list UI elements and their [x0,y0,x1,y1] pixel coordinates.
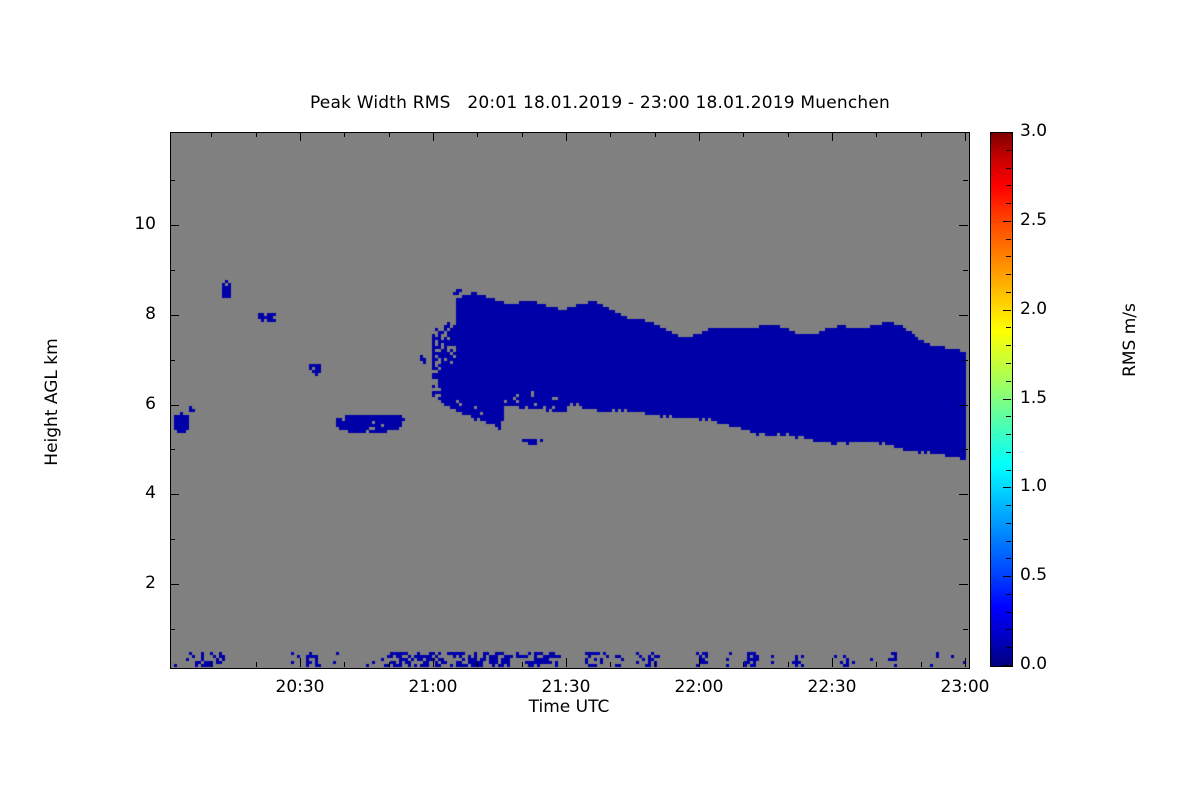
y-axis-tick-right [963,629,968,630]
x-axis-tick-top [300,132,301,141]
colorbar-label: RMS m/s [1120,220,1140,460]
colorbar-tick-minor [1006,327,1011,328]
x-axis-tick-top [699,132,700,141]
colorbar-tick-label: 2.0 [1020,299,1047,319]
colorbar-tick [1003,310,1011,311]
colorbar-tick-minor [1006,168,1011,169]
colorbar-tick [1003,399,1011,400]
x-axis-tick [433,658,434,667]
colorbar-tick-minor [1006,345,1011,346]
y-axis-tick-right [963,180,968,181]
x-axis-tick [965,658,966,667]
x-axis-label: Time UTC [170,697,968,717]
x-axis-tick-top [433,132,434,141]
x-axis-tick [389,662,390,667]
x-axis-tick-top [876,132,877,137]
colorbar-tick-label: 0.0 [1020,654,1047,674]
x-axis-tick-top [921,132,922,137]
plot-area[interactable] [170,132,970,669]
y-axis-tick-right [959,225,968,226]
x-axis-tick-top [965,132,966,141]
colorbar-tick-minor [1006,256,1011,257]
y-axis-tick [170,360,175,361]
colorbar-tick-minor [1006,470,1011,471]
colorbar-tick-minor [1006,594,1011,595]
x-axis-tick-top [566,132,567,141]
y-axis-tick-label: 2 [86,573,156,593]
y-axis-tick-right [959,405,968,406]
x-axis-tick-label: 23:00 [915,677,1015,697]
figure-container: Peak Width RMS 20:01 18.01.2019 - 23:00 … [0,0,1200,800]
colorbar-tick-minor [1006,239,1011,240]
x-axis-tick-label: 21:00 [383,677,483,697]
colorbar-tick-label: 2.5 [1020,210,1047,230]
y-axis-tick [170,270,175,271]
colorbar-tick [1003,221,1011,222]
colorbar-tick-label: 3.0 [1020,121,1047,141]
x-axis-tick-label: 20:30 [250,677,350,697]
x-axis-tick-top [788,132,789,137]
y-axis-tick [170,539,175,540]
x-axis-tick [522,662,523,667]
y-axis-tick [170,315,179,316]
page-title: Peak Width RMS 20:01 18.01.2019 - 23:00 … [0,93,1200,113]
x-axis-tick [566,658,567,667]
colorbar-tick [1003,132,1011,133]
colorbar-tick-label: 1.0 [1020,476,1047,496]
x-axis-tick [699,658,700,667]
x-axis-tick [876,662,877,667]
y-axis-tick [170,180,175,181]
y-axis-tick-right [963,449,968,450]
heatmap-data-layer [171,133,969,668]
y-axis-tick-right [959,494,968,495]
x-axis-tick [477,662,478,667]
colorbar-tick-minor [1006,416,1011,417]
colorbar-tick-minor [1006,558,1011,559]
y-axis-tick [170,629,175,630]
x-axis-tick-top [610,132,611,137]
y-axis-label: Height AGL km [42,282,62,522]
x-axis-tick-label: 22:00 [649,677,749,697]
x-axis-tick [344,662,345,667]
x-axis-tick [788,662,789,667]
x-axis-tick-top [743,132,744,137]
x-axis-tick-label: 22:30 [782,677,882,697]
y-axis-tick-right [963,270,968,271]
colorbar-tick-minor [1006,629,1011,630]
y-axis-tick [170,494,179,495]
colorbar-tick-minor [1006,185,1011,186]
x-axis-tick [610,662,611,667]
y-axis-tick-label: 8 [86,304,156,324]
x-axis-tick [211,662,212,667]
x-axis-tick-top [477,132,478,137]
colorbar-tick-minor [1006,292,1011,293]
y-axis-tick [170,449,175,450]
colorbar-tick-minor [1006,274,1011,275]
colorbar-tick-minor [1006,434,1011,435]
colorbar-tick-label: 0.5 [1020,565,1047,585]
x-axis-tick [256,662,257,667]
x-axis-tick-top [344,132,345,137]
y-axis-tick [170,225,179,226]
x-axis-tick-top [256,132,257,137]
colorbar-tick-minor [1006,203,1011,204]
colorbar-tick-minor [1006,150,1011,151]
colorbar-tick [1003,576,1011,577]
y-axis-tick-label: 6 [86,394,156,414]
colorbar-tick-minor [1006,523,1011,524]
colorbar-tick-minor [1006,363,1011,364]
y-axis-tick-right [963,360,968,361]
y-axis-tick-right [959,584,968,585]
x-axis-tick-label: 21:30 [516,677,616,697]
colorbar-tick-label: 1.5 [1020,388,1047,408]
y-axis-tick-right [959,315,968,316]
x-axis-tick-top [389,132,390,137]
x-axis-tick-top [832,132,833,141]
colorbar-tick [1003,665,1011,666]
colorbar-tick-minor [1006,612,1011,613]
x-axis-tick [921,662,922,667]
colorbar-tick [1003,487,1011,488]
y-axis-tick [170,584,179,585]
colorbar-tick-minor [1006,381,1011,382]
x-axis-tick-top [522,132,523,137]
y-axis-tick [170,405,179,406]
x-axis-tick [832,658,833,667]
colorbar-tick-minor [1006,452,1011,453]
x-axis-tick-top [211,132,212,137]
x-axis-tick [743,662,744,667]
y-axis-tick-label: 10 [86,214,156,234]
x-axis-tick [655,662,656,667]
colorbar-tick-minor [1006,541,1011,542]
y-axis-tick-label: 4 [86,483,156,503]
colorbar-tick-minor [1006,647,1011,648]
colorbar-tick-minor [1006,505,1011,506]
y-axis-tick-right [963,539,968,540]
x-axis-tick-top [655,132,656,137]
x-axis-tick [300,658,301,667]
